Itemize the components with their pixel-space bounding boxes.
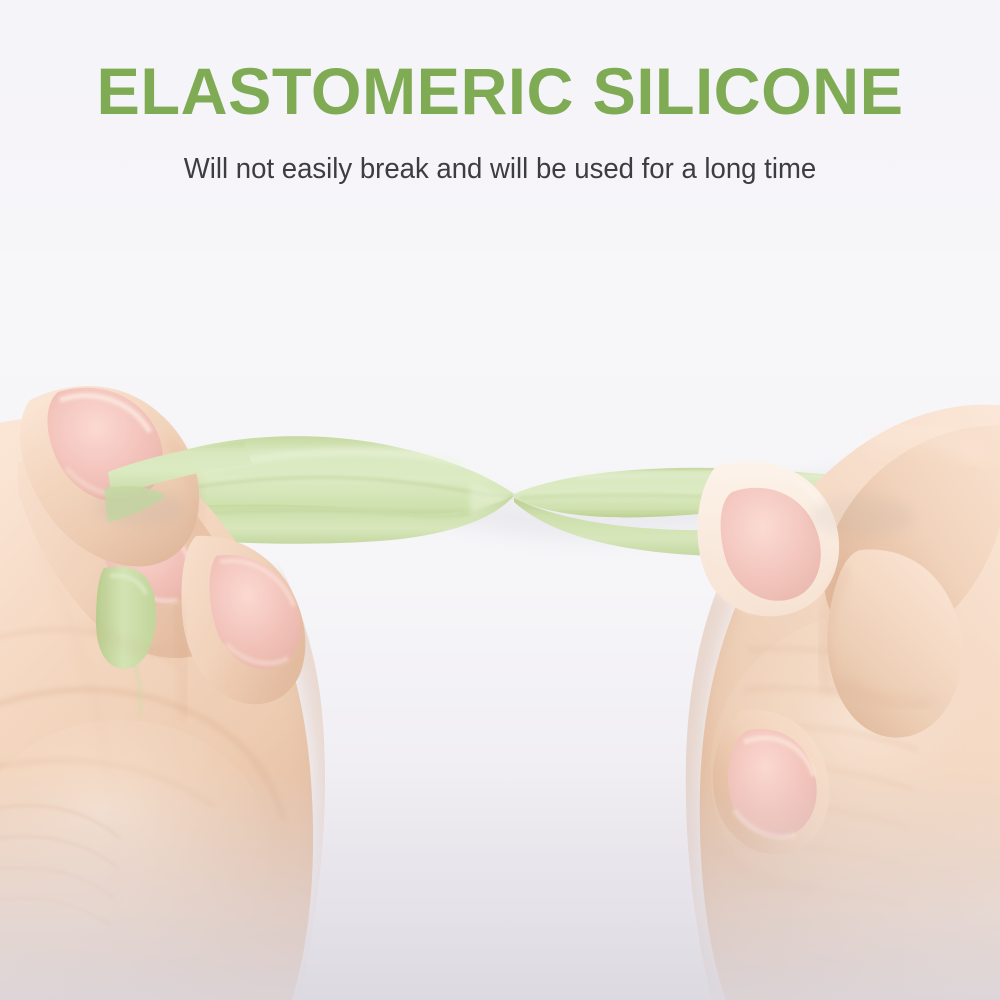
right-hand [660,405,1000,1000]
page-subtitle: Will not easily break and will be used f… [25,152,975,187]
product-feature-image: ELASTOMERIC SILICONE Will not easily bre… [0,0,1000,1000]
right-contact-shadow [810,496,914,536]
product-photo [0,250,1000,1000]
page-title: ELASTOMERIC SILICONE [8,58,993,124]
hands-stretching-silicone-illustration [0,250,1000,1000]
left-contact-shadow [94,490,186,526]
